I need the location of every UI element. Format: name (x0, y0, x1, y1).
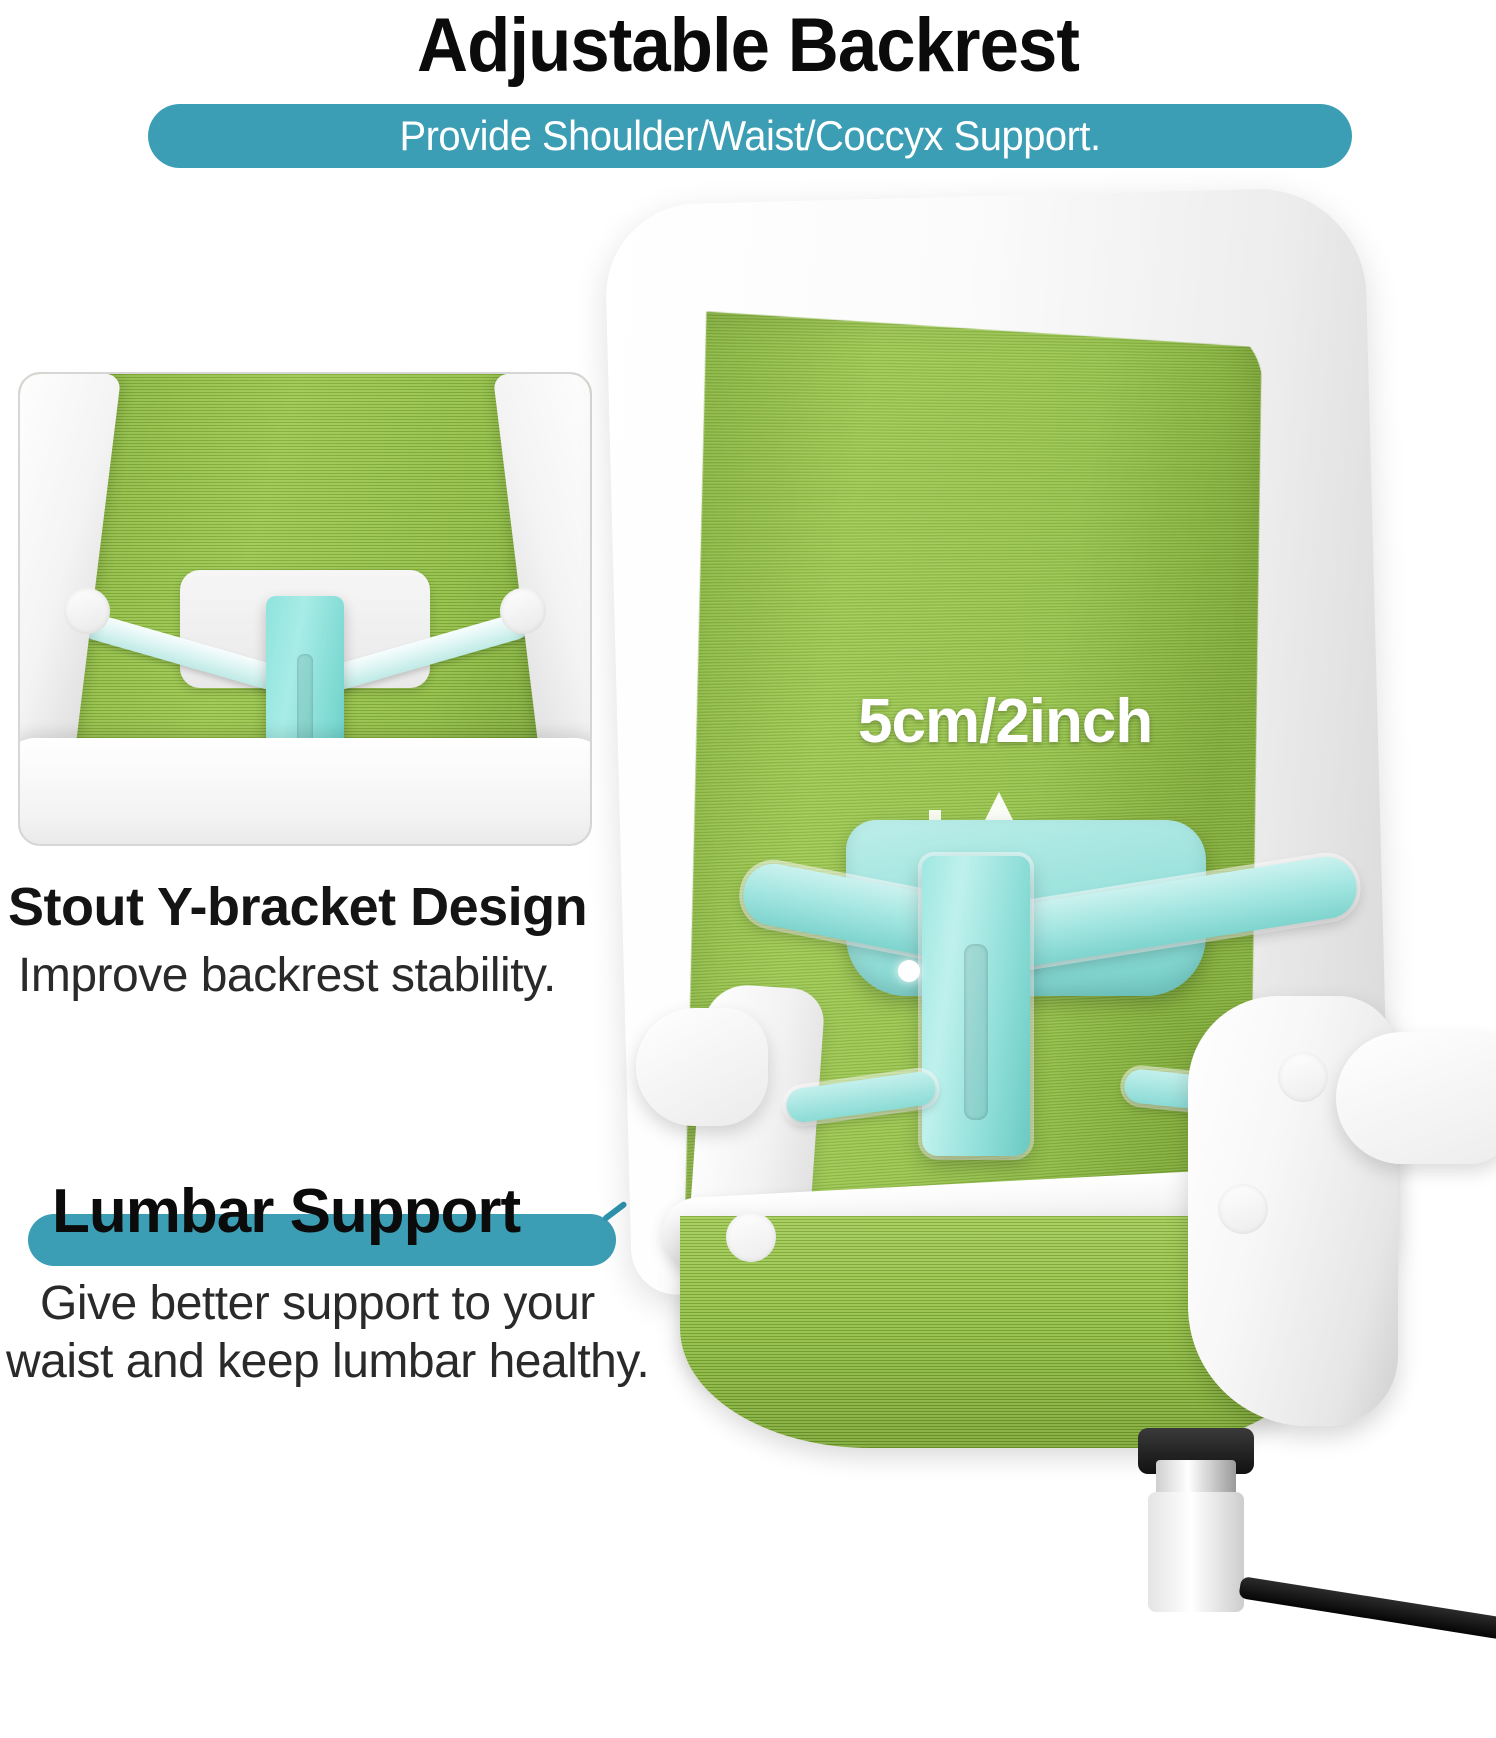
y-bracket-closeup-panel (18, 372, 592, 846)
lumbar-support-block: Lumbar Support (24, 1176, 624, 1272)
closeup-seat-base (18, 738, 592, 846)
lumbar-center-stem (922, 856, 1030, 1156)
gas-cylinder-body (1148, 1492, 1244, 1612)
infographic-canvas: Adjustable Backrest Provide Shoulder/Wai… (0, 0, 1496, 1500)
chair-illustration: 5cm/2inch (600, 196, 1496, 1500)
frame-dimple-2 (1218, 1184, 1268, 1234)
ybracket-body: Improve backrest stability. (18, 948, 556, 1003)
lumbar-body-line-1: Give better support to your (40, 1276, 595, 1331)
dimension-label: 5cm/2inch (858, 686, 1152, 757)
subtitle-banner: Provide Shoulder/Waist/Coccyx Support. (148, 104, 1352, 168)
frame-dimple-1 (1278, 1052, 1328, 1102)
lumbar-body-line-2: waist and keep lumbar healthy. (6, 1334, 649, 1389)
ybracket-heading: Stout Y-bracket Design (8, 876, 587, 938)
lumbar-hook-left (784, 1070, 937, 1125)
closeup-pivot-knob-left (64, 588, 110, 634)
lumbar-heading: Lumbar Support (52, 1176, 520, 1247)
callout-anchor-dot-icon (898, 960, 920, 982)
closeup-pivot-knob-right (500, 588, 546, 634)
base-spoke-1 (1238, 1576, 1496, 1649)
frame-dimple-3 (726, 1212, 776, 1262)
backrest-tilt-knob-left (636, 1008, 768, 1126)
subtitle-text: Provide Shoulder/Waist/Coccyx Support. (399, 112, 1100, 160)
page-title: Adjustable Backrest (52, 2, 1443, 89)
armrest-pad-right (1336, 1032, 1496, 1164)
